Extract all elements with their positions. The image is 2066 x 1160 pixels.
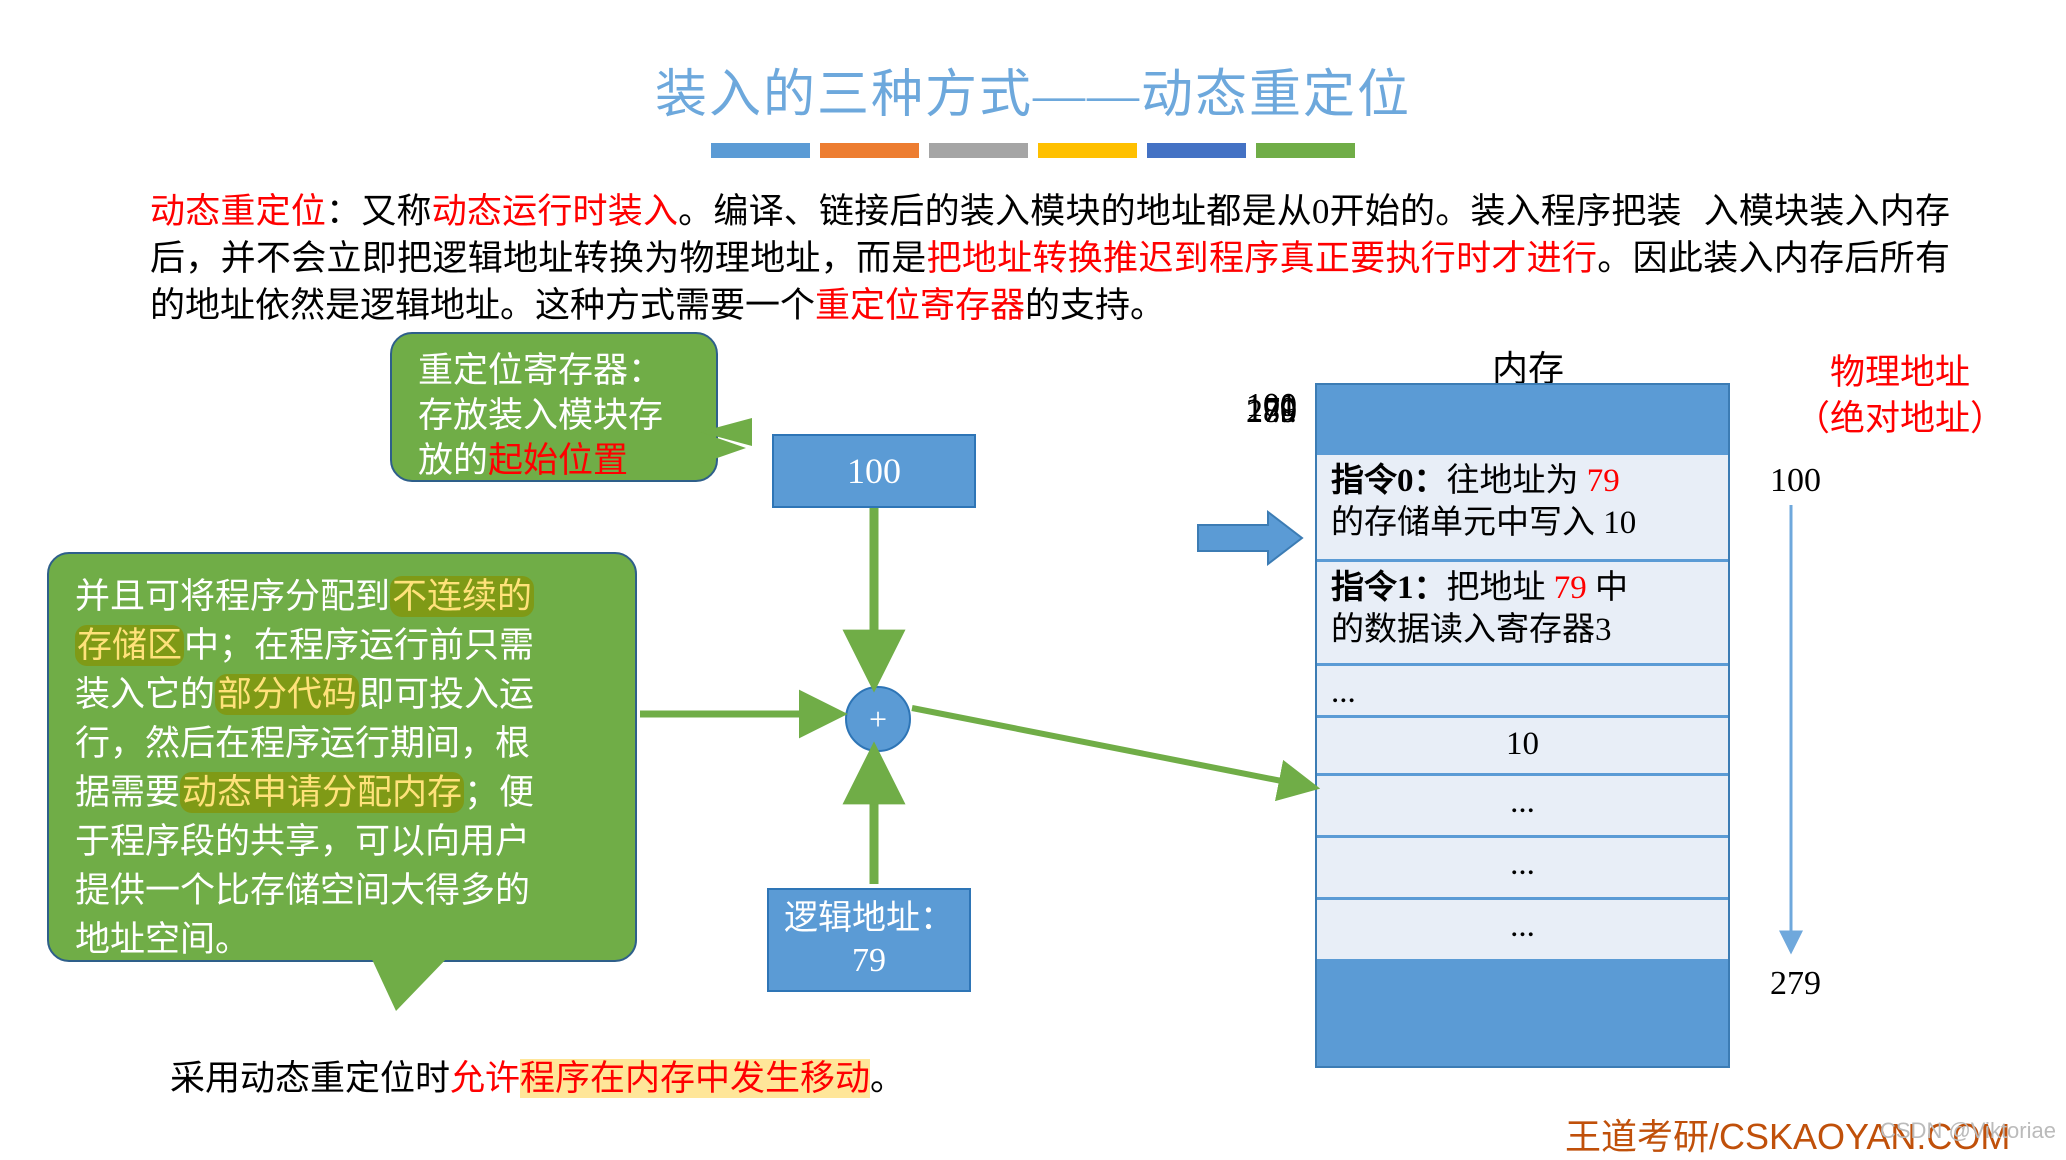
cb-hl4: 动态申请分配内存 bbox=[180, 772, 464, 813]
cb-hl3: 部分代码 bbox=[215, 674, 359, 715]
memory-row-279: ... 279 bbox=[1317, 897, 1728, 959]
memory-row-ellipsis-1: ... ... bbox=[1317, 663, 1728, 715]
bottom-note-highlight: 程序在内存中发生移动 bbox=[520, 1059, 870, 1098]
memory-row-100-addr: 79 bbox=[1587, 463, 1620, 499]
title-bar-3 bbox=[929, 143, 1028, 158]
callout-big-line8: 地址空间。 bbox=[75, 915, 609, 964]
para-term-defer: 把地址转换推迟到程序真正要执行 bbox=[927, 239, 1456, 278]
para-text-1: ：又称 bbox=[326, 192, 432, 231]
callout-big-line4: 行，然后在程序运行期间，根 bbox=[75, 719, 609, 768]
cb-seg4: 即可投入运 bbox=[359, 675, 534, 714]
callout-register-line3-a: 放的 bbox=[418, 441, 488, 480]
memory-row-100: 指令0：往地址为 79的存储单元中写入 10 100 bbox=[1317, 455, 1728, 559]
cb-seg5: 行，然后在程序运行期间，根 bbox=[75, 724, 530, 763]
para-term-defer-2: 时才进行 bbox=[1456, 239, 1597, 278]
cb-seg3: 装入它的 bbox=[75, 675, 215, 714]
memory-row-179: 10 179 bbox=[1317, 715, 1728, 773]
memory-row-279-text: ... bbox=[1510, 908, 1535, 944]
cb-seg2: 中；在程序运行前只需 bbox=[184, 626, 534, 665]
memory-row-100-mid: 往地址为 bbox=[1447, 463, 1587, 499]
memory-table: 指令0：往地址为 79的存储单元中写入 10 100 指令1：把地址 79 中的… bbox=[1315, 383, 1730, 1068]
callout-big-line7: 提供一个比存储空间大得多的 bbox=[75, 866, 609, 915]
cb-seg9: 提供一个比存储空间大得多的 bbox=[75, 871, 530, 910]
memory-row-ellipsis-2-text: ... bbox=[1510, 846, 1535, 882]
callout-register-line3-b: 起始位置 bbox=[488, 441, 628, 480]
bottom-note: 采用动态重定位时允许程序在内存中发生移动。 bbox=[170, 1050, 905, 1101]
memory-row-180: ... 180 bbox=[1317, 773, 1728, 835]
logical-address-box: 逻辑地址： 79 bbox=[767, 888, 971, 992]
memory-row-ellipsis-1-text: ... bbox=[1331, 674, 1356, 710]
cb-seg6: 据需要 bbox=[75, 773, 180, 812]
intro-paragraph: 动态重定位：又称动态运行时装入。编译、链接后的装入模块的地址都是从0开始的。装入… bbox=[150, 188, 1950, 329]
callout-register-line3: 放的起始位置 bbox=[418, 438, 716, 483]
cb-seg8: 于程序段的共享，可以向用户 bbox=[75, 822, 530, 861]
memory-row-180-text: ... bbox=[1510, 784, 1535, 820]
para-term-reloc-register: 重定位寄存器 bbox=[815, 286, 1025, 325]
callout-big-line2: 存储区中；在程序运行前只需 bbox=[75, 621, 609, 670]
para-text-2: 。编译、链接后的装入模块的地址都是从0开始的。装入程序把装 bbox=[678, 192, 1682, 231]
memory-addr-279: 279 bbox=[1157, 391, 1297, 433]
title-bar-2 bbox=[820, 143, 919, 158]
bottom-note-red: 允许 bbox=[450, 1059, 520, 1098]
cb-seg1: 并且可将程序分配到 bbox=[75, 577, 390, 616]
callout-big-line3: 装入它的部分代码即可投入运 bbox=[75, 670, 609, 719]
callout-register-line2: 存放装入模块存 bbox=[418, 393, 716, 438]
cb-seg7: ；便 bbox=[464, 773, 534, 812]
cb-hl1: 不连续的 bbox=[390, 576, 534, 617]
title-bar-1 bbox=[711, 143, 810, 158]
physical-address-label: 物理地址 （绝对地址） bbox=[1755, 350, 2045, 442]
cb-hl2: 存储区 bbox=[75, 625, 184, 666]
bottom-note-normal: 采用动态重定位时 bbox=[170, 1059, 450, 1098]
memory-row-101-line2: 的数据读入寄存器3 bbox=[1331, 612, 1612, 648]
adder-circle: + bbox=[845, 686, 911, 752]
callout-big-tail bbox=[370, 955, 450, 1011]
title-bar-6 bbox=[1256, 143, 1355, 158]
para-term-runtime-load: 动态运行时装入 bbox=[432, 192, 678, 231]
memory-row-ellipsis-2: ... ... bbox=[1317, 835, 1728, 897]
arrow-adder-to-memory bbox=[912, 708, 1312, 787]
memory-row-179-text: 10 bbox=[1506, 726, 1539, 762]
page-title: 装入的三种方式——动态重定位 bbox=[0, 52, 2066, 127]
memory-row-101-addr: 79 bbox=[1554, 570, 1587, 606]
memory-cap-bottom bbox=[1317, 959, 1728, 1066]
callout-big-line5: 据需要动态申请分配内存；便 bbox=[75, 768, 609, 817]
callout-relocation-register: 重定位寄存器： 存放装入模块存 放的起始位置 bbox=[390, 332, 718, 482]
physical-address-label-line2: （绝对地址） bbox=[1755, 396, 2045, 442]
callout-big-line6: 于程序段的共享，可以向用户 bbox=[75, 817, 609, 866]
title-decoration-bars bbox=[711, 143, 1355, 158]
instruction-pointer-arrow bbox=[1198, 512, 1302, 564]
watermark-text: CSDN @Viktoriae bbox=[1880, 1118, 2056, 1144]
cb-seg10: 地址空间。 bbox=[75, 920, 250, 959]
memory-row-101-prefix: 指令1： bbox=[1331, 570, 1447, 606]
physical-address-top-value: 100 bbox=[1770, 462, 1821, 500]
logical-address-label: 逻辑地址： bbox=[784, 898, 954, 940]
callout-big-line1: 并且可将程序分配到不连续的 bbox=[75, 572, 609, 621]
relocation-register-box: 100 bbox=[772, 434, 976, 508]
logical-address-value: 79 bbox=[852, 940, 886, 982]
callout-register-tail bbox=[700, 432, 746, 464]
callout-register-line1: 重定位寄存器： bbox=[418, 348, 716, 393]
physical-address-bottom-value: 279 bbox=[1770, 965, 1821, 1003]
memory-row-101-tail: 中 bbox=[1587, 570, 1628, 606]
para-term-dynamic-relocation: 动态重定位 bbox=[150, 192, 326, 231]
memory-row-101-mid: 把地址 bbox=[1447, 570, 1554, 606]
physical-address-label-line1: 物理地址 bbox=[1755, 350, 2045, 396]
memory-cap-top bbox=[1317, 385, 1728, 455]
memory-row-100-line2: 的存储单元中写入 10 bbox=[1331, 505, 1636, 541]
title-bar-5 bbox=[1147, 143, 1246, 158]
memory-row-101: 指令1：把地址 79 中的数据读入寄存器3 101 bbox=[1317, 559, 1728, 663]
memory-row-100-prefix: 指令0： bbox=[1331, 463, 1447, 499]
callout-discontinuous-allocation: 并且可将程序分配到不连续的 存储区中；在程序运行前只需 装入它的部分代码即可投入… bbox=[47, 552, 637, 962]
bottom-note-end: 。 bbox=[870, 1059, 905, 1098]
title-bar-4 bbox=[1038, 143, 1137, 158]
para-text-5: 的支持。 bbox=[1025, 286, 1165, 325]
